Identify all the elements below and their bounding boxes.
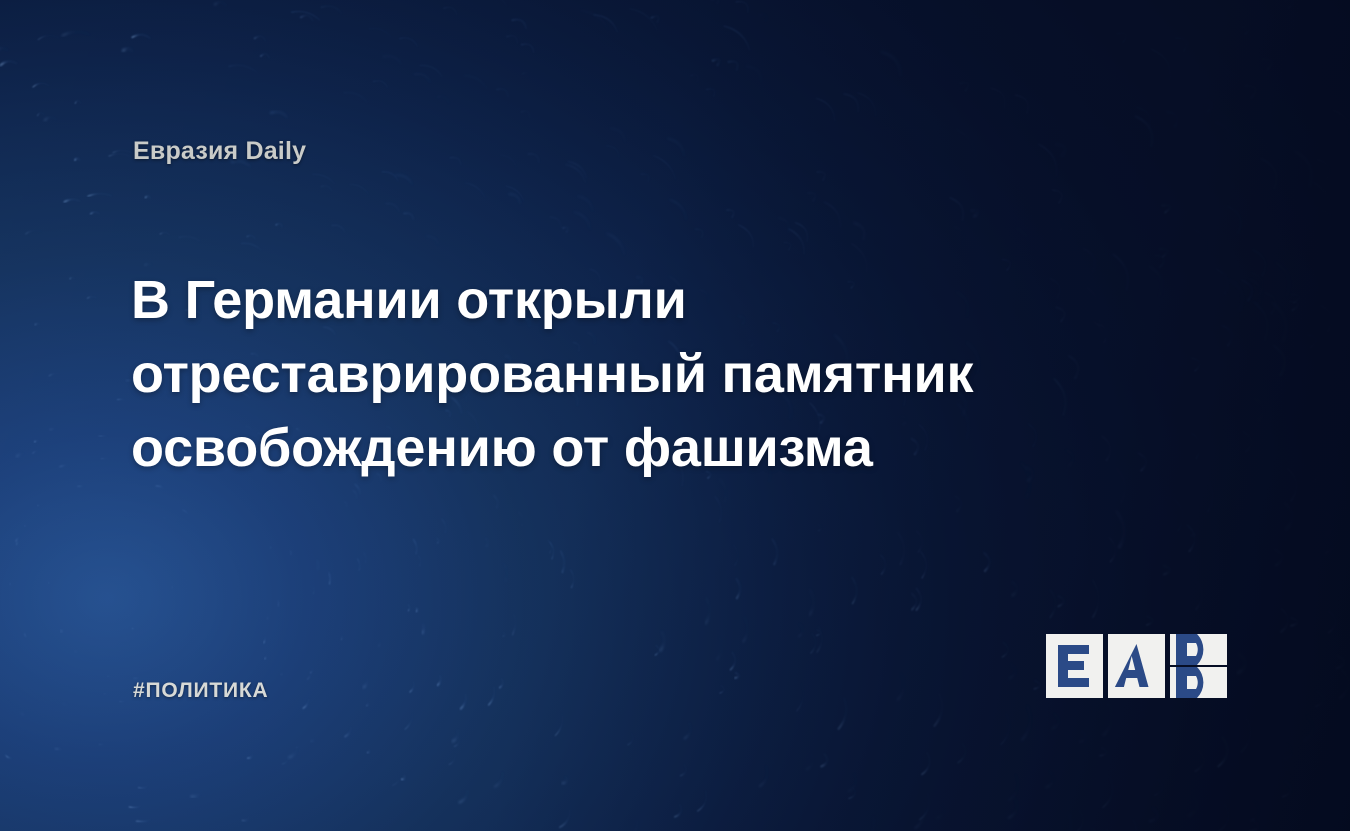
ead-logo[interactable] xyxy=(1043,628,1233,708)
article-headline: В Германии открыли отреставрированный па… xyxy=(131,263,1031,485)
headline-line-3: освобождению от фашизма xyxy=(131,411,1031,485)
brand-name: Евразия Daily xyxy=(133,137,306,166)
news-article-card: Евразия Daily В Германии открыли отреста… xyxy=(0,0,1350,831)
headline-line-2: отреставрированный памятник xyxy=(131,337,1031,411)
category-tag[interactable]: #ПОЛИТИКА xyxy=(133,679,269,703)
headline-line-1: В Германии открыли xyxy=(131,263,1031,337)
